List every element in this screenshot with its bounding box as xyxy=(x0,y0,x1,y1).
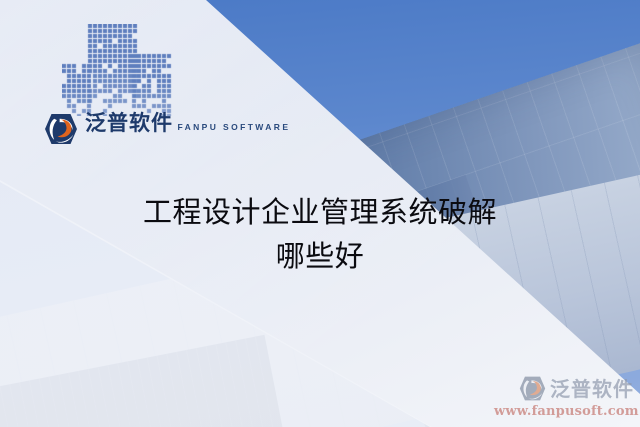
watermark-url: www.fanpusoft.com xyxy=(494,404,634,419)
headline-line-2: 哪些好 xyxy=(0,234,640,278)
watermark: 泛普软件 www.fanpusoft.com xyxy=(494,375,634,419)
brand-logo: 泛普软件 FANPU SOFTWARE xyxy=(44,112,290,146)
brand-text: 泛普软件 FANPU SOFTWARE xyxy=(85,112,290,135)
promo-banner: 泛普软件 FANPU SOFTWARE 工程设计企业管理系统破解 哪些好 泛普软… xyxy=(0,0,640,427)
watermark-logo-row: 泛普软件 xyxy=(494,375,634,402)
headline-line-1: 工程设计企业管理系统破解 xyxy=(0,190,640,234)
fanpu-logo-mark xyxy=(44,112,78,146)
brand-name-en: FANPU SOFTWARE xyxy=(177,122,290,132)
pixelated-skyline-icon xyxy=(62,24,182,116)
fanpu-logo-mark-watermark xyxy=(519,375,546,402)
brand-name-cn: 泛普软件 xyxy=(85,111,173,135)
headline: 工程设计企业管理系统破解 哪些好 xyxy=(0,190,640,278)
watermark-name-cn: 泛普软件 xyxy=(550,379,634,399)
